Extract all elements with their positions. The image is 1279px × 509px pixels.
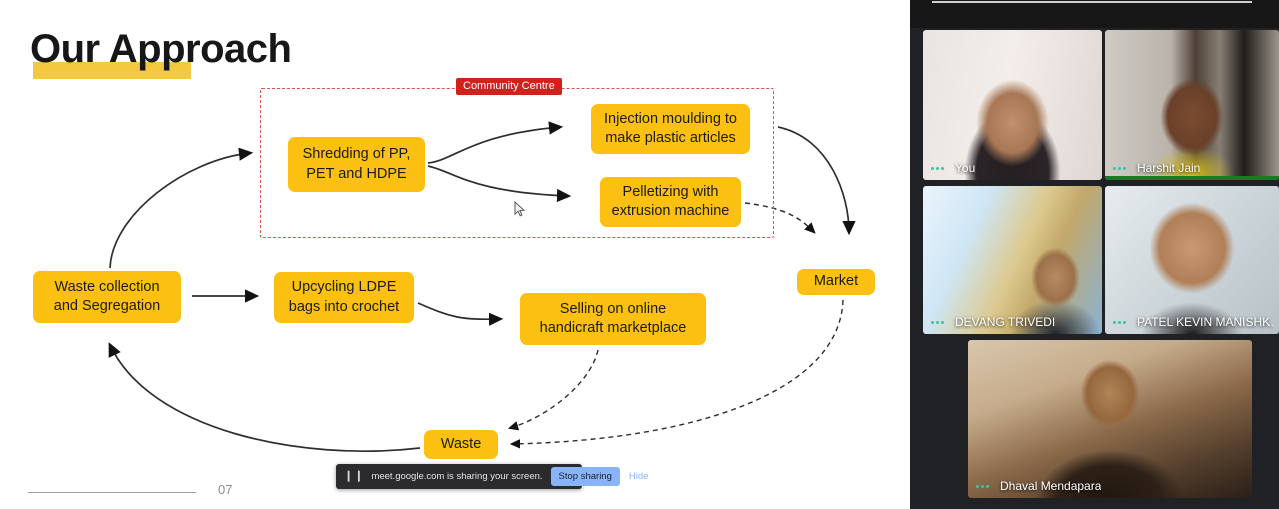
node-injection-moulding[interactable]: Injection moulding to make plastic artic… — [591, 104, 750, 154]
audio-status-icon — [931, 167, 946, 170]
participant-name: You — [931, 161, 975, 175]
shared-slide: Our Approach Community Centre — [0, 0, 910, 509]
participant-tile-harshit-jain[interactable]: Harshit Jain — [1105, 30, 1279, 180]
meet-top-strip — [910, 0, 1279, 28]
audio-status-icon — [1113, 167, 1128, 170]
hide-button[interactable]: Hide — [629, 471, 649, 482]
active-speaker-indicator — [1105, 176, 1279, 180]
audio-status-icon — [976, 485, 991, 488]
participant-tile-dhaval-mendapara[interactable]: Dhaval Mendapara — [968, 340, 1252, 498]
participant-name-label: You — [955, 161, 975, 175]
node-selling-online[interactable]: Selling on online handicraft marketplace — [520, 293, 706, 345]
video-feed — [923, 186, 1102, 334]
video-feed — [1105, 30, 1279, 180]
node-upcycling-ldpe[interactable]: Upcycling LDPE bags into crochet — [274, 272, 414, 323]
page-number: 07 — [218, 482, 232, 497]
node-pelletizing[interactable]: Pelletizing with extrusion machine — [600, 177, 741, 227]
mouse-cursor-icon — [514, 201, 526, 223]
participant-name: DEVANG TRIVEDI — [931, 315, 1055, 329]
participant-name: PATEL KEVIN MANISHK… — [1113, 315, 1273, 329]
participant-name-label: DEVANG TRIVEDI — [955, 315, 1055, 329]
participant-name-label: PATEL KEVIN MANISHK… — [1137, 315, 1273, 329]
participant-tile-devang-trivedi[interactable]: DEVANG TRIVEDI — [923, 186, 1102, 334]
share-message: meet.google.com is sharing your screen. — [371, 471, 542, 482]
screen: Our Approach Community Centre — [0, 0, 1279, 509]
video-feed — [968, 340, 1252, 498]
participant-name-label: Harshit Jain — [1137, 161, 1200, 175]
community-centre-label: Community Centre — [456, 78, 562, 95]
footer-rule — [28, 492, 196, 493]
meet-top-divider — [932, 1, 1252, 3]
pause-icon: ❙❙ — [344, 471, 364, 482]
audio-status-icon — [1113, 321, 1128, 324]
participant-tile-you[interactable]: You — [923, 30, 1102, 180]
node-waste[interactable]: Waste — [424, 430, 498, 459]
meet-participants-panel: You Harshit Jain DEVANG TRIVEDI PATEL KE… — [910, 0, 1279, 509]
screen-share-bar[interactable]: ❙❙ meet.google.com is sharing your scree… — [336, 464, 582, 489]
node-waste-collection[interactable]: Waste collection and Segregation — [33, 271, 181, 323]
page-title: Our Approach — [30, 27, 291, 72]
audio-status-icon — [931, 321, 946, 324]
node-market[interactable]: Market — [797, 269, 875, 295]
participant-tile-patel-kevin[interactable]: PATEL KEVIN MANISHK… — [1105, 186, 1279, 334]
participant-name-label: Dhaval Mendapara — [1000, 479, 1101, 493]
stop-sharing-button[interactable]: Stop sharing — [551, 467, 620, 486]
node-shredding[interactable]: Shredding of PP, PET and HDPE — [288, 137, 425, 192]
participant-name: Dhaval Mendapara — [976, 479, 1101, 493]
video-feed — [1105, 186, 1279, 334]
video-feed — [923, 30, 1102, 180]
participant-name: Harshit Jain — [1113, 161, 1200, 175]
